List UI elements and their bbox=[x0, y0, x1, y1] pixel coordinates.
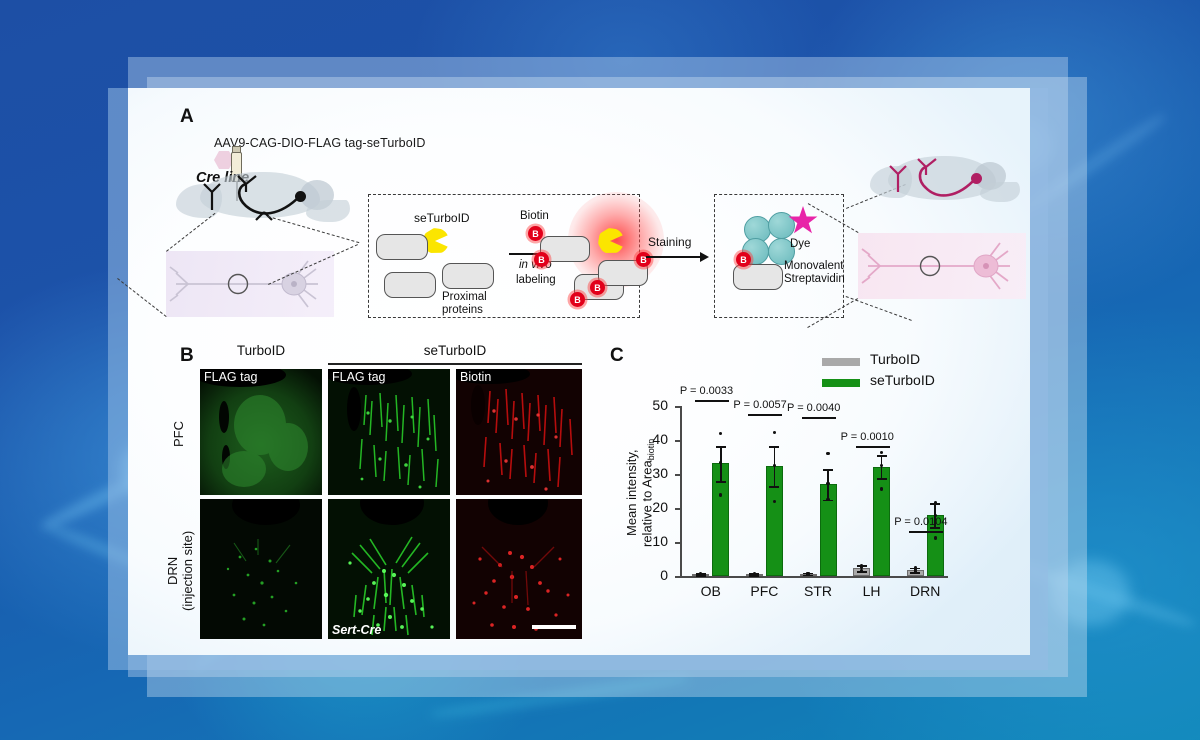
micrograph-caption: FLAG tag bbox=[204, 370, 258, 384]
micrograph-drn-seturboid-flag: Sert-Cre bbox=[328, 499, 450, 639]
bars-layer: P = 0.0033P = 0.0057P = 0.0040P = 0.0010… bbox=[680, 406, 948, 576]
seturboid-header-rule bbox=[328, 363, 582, 365]
neuron-inset-left bbox=[166, 251, 334, 317]
data-point bbox=[826, 498, 829, 501]
figure-stage: A AAV9-CAG-DIO-FLAG tag-seTurboID Cre li… bbox=[0, 0, 1200, 740]
panel-a: A AAV9-CAG-DIO-FLAG tag-seTurboID Cre li… bbox=[128, 88, 1030, 348]
legend-label-turboid: TurboID bbox=[870, 351, 920, 367]
protein-box bbox=[384, 272, 436, 298]
x-tick-label-pfc: PFC bbox=[738, 583, 790, 599]
p-value-label-drn: P = 0.0104 bbox=[894, 516, 947, 528]
error-bar-cap-lower bbox=[769, 486, 779, 488]
y-tick-label: 10 bbox=[642, 533, 668, 549]
row-label-pfc: PFC bbox=[172, 373, 187, 495]
dye-label: Dye bbox=[790, 238, 810, 251]
error-bar-cap-lower bbox=[716, 481, 726, 483]
error-bar-cap-lower bbox=[877, 478, 887, 480]
legend-swatch-seturboid bbox=[822, 379, 860, 387]
protein-box-stained bbox=[733, 264, 783, 290]
y-tick bbox=[675, 576, 680, 578]
data-point bbox=[753, 572, 756, 575]
panel-b-letter: B bbox=[180, 345, 194, 367]
p-value-label-lh: P = 0.0010 bbox=[841, 431, 894, 443]
data-point bbox=[773, 431, 776, 434]
y-axis-label-line1: Mean intensity, relative to Areabiotin bbox=[624, 407, 642, 579]
data-point bbox=[880, 487, 883, 490]
y-tick-label: 20 bbox=[642, 499, 668, 515]
staining-arrow bbox=[646, 256, 702, 258]
y-tick-label: 0 bbox=[642, 567, 668, 583]
micrograph-caption: FLAG tag bbox=[332, 370, 386, 384]
y-tick-label: 30 bbox=[642, 465, 668, 481]
x-axis bbox=[680, 576, 948, 578]
genotype-label: Sert-Cre bbox=[332, 623, 381, 637]
x-tick-label-lh: LH bbox=[846, 583, 898, 599]
data-point bbox=[880, 451, 883, 454]
injection-site-dot bbox=[295, 191, 306, 202]
brain-diagram-right bbox=[870, 154, 1020, 214]
proximal-proteins-label: Proximal proteins bbox=[442, 291, 487, 317]
staining-arrow-head bbox=[700, 252, 709, 262]
micrograph-pfc-turboid-flag: FLAG tag bbox=[200, 369, 322, 495]
biotin-tag-icon: B bbox=[570, 292, 585, 307]
x-tick-label-drn: DRN bbox=[899, 583, 951, 599]
data-point bbox=[934, 536, 937, 539]
protein-box bbox=[376, 234, 428, 260]
micrograph-pfc-seturboid-flag: FLAG tag bbox=[328, 369, 450, 495]
data-point bbox=[826, 482, 829, 485]
streptavidin-subunit-icon bbox=[768, 212, 795, 239]
y-tick-label: 40 bbox=[642, 431, 668, 447]
data-point bbox=[826, 452, 829, 455]
enzyme-label: seTurboID bbox=[414, 212, 470, 226]
staining-label: Staining bbox=[648, 236, 691, 250]
p-value-label-pfc: P = 0.0057 bbox=[733, 399, 786, 411]
column-header-seturboid: seTurboID bbox=[328, 343, 582, 358]
injection-site-dot bbox=[971, 173, 982, 184]
scale-bar bbox=[532, 625, 576, 629]
biotin-tag-icon: B bbox=[534, 252, 549, 267]
legend-swatch-turboid bbox=[822, 358, 860, 366]
x-tick-label-str: STR bbox=[792, 583, 844, 599]
x-tick-label-ob: OB bbox=[685, 583, 737, 599]
data-point bbox=[860, 564, 863, 567]
error-bar-cap-upper bbox=[877, 455, 887, 457]
significance-bracket bbox=[909, 531, 943, 533]
error-bar-cap-upper bbox=[823, 469, 833, 471]
legend-label-seturboid: seTurboID bbox=[870, 372, 935, 388]
error-bar-cap-upper bbox=[716, 446, 726, 448]
micrograph-pfc-seturboid-biotin: Biotin bbox=[456, 369, 582, 495]
data-point bbox=[773, 464, 776, 467]
significance-bracket bbox=[695, 400, 729, 402]
projection-path-right bbox=[870, 154, 1020, 214]
bar-seturboid-lh bbox=[873, 467, 890, 576]
biotin-tag-icon: B bbox=[636, 252, 651, 267]
p-value-label-str: P = 0.0040 bbox=[787, 402, 840, 414]
error-bar-cap-upper bbox=[769, 446, 779, 448]
protein-box bbox=[442, 263, 494, 289]
panel-c-letter: C bbox=[610, 345, 624, 367]
significance-bracket bbox=[748, 414, 782, 416]
significance-bracket bbox=[802, 417, 836, 419]
row-label-drn: DRN (injection site) bbox=[166, 501, 196, 641]
chart-plot-area: 0 10 20 30 40 50 P = 0.0033P = 0.0057P =… bbox=[680, 406, 948, 576]
labeling-label: labeling bbox=[516, 274, 556, 287]
figure-card: A AAV9-CAG-DIO-FLAG tag-seTurboID Cre li… bbox=[128, 88, 1030, 655]
significance-bracket bbox=[856, 446, 890, 448]
micrograph-drn-turboid-flag bbox=[200, 499, 322, 639]
biotin-tag-icon: B bbox=[736, 252, 751, 267]
micrograph-caption: Biotin bbox=[460, 370, 491, 384]
y-tick-label: 50 bbox=[642, 397, 668, 413]
biotin-tag-icon: B bbox=[590, 280, 605, 295]
neuron-inset-right bbox=[858, 233, 1026, 299]
aav-construct-label: AAV9-CAG-DIO-FLAG tag-seTurboID bbox=[214, 136, 426, 150]
biotin-label: Biotin bbox=[520, 210, 549, 223]
data-point bbox=[719, 432, 722, 435]
data-point bbox=[806, 572, 809, 575]
panel-b: B TurboID seTurboID PFC DRN (injection s… bbox=[128, 343, 598, 655]
panel-a-letter: A bbox=[180, 106, 194, 128]
micrograph-drn-seturboid-biotin bbox=[456, 499, 582, 639]
panel-c: C TurboID seTurboID Mean intensity, rela… bbox=[598, 343, 1030, 655]
streptavidin-label: Monovalent Streptavidin bbox=[784, 260, 845, 286]
p-value-label-ob: P = 0.0033 bbox=[680, 385, 733, 397]
column-header-turboid: TurboID bbox=[200, 343, 322, 358]
